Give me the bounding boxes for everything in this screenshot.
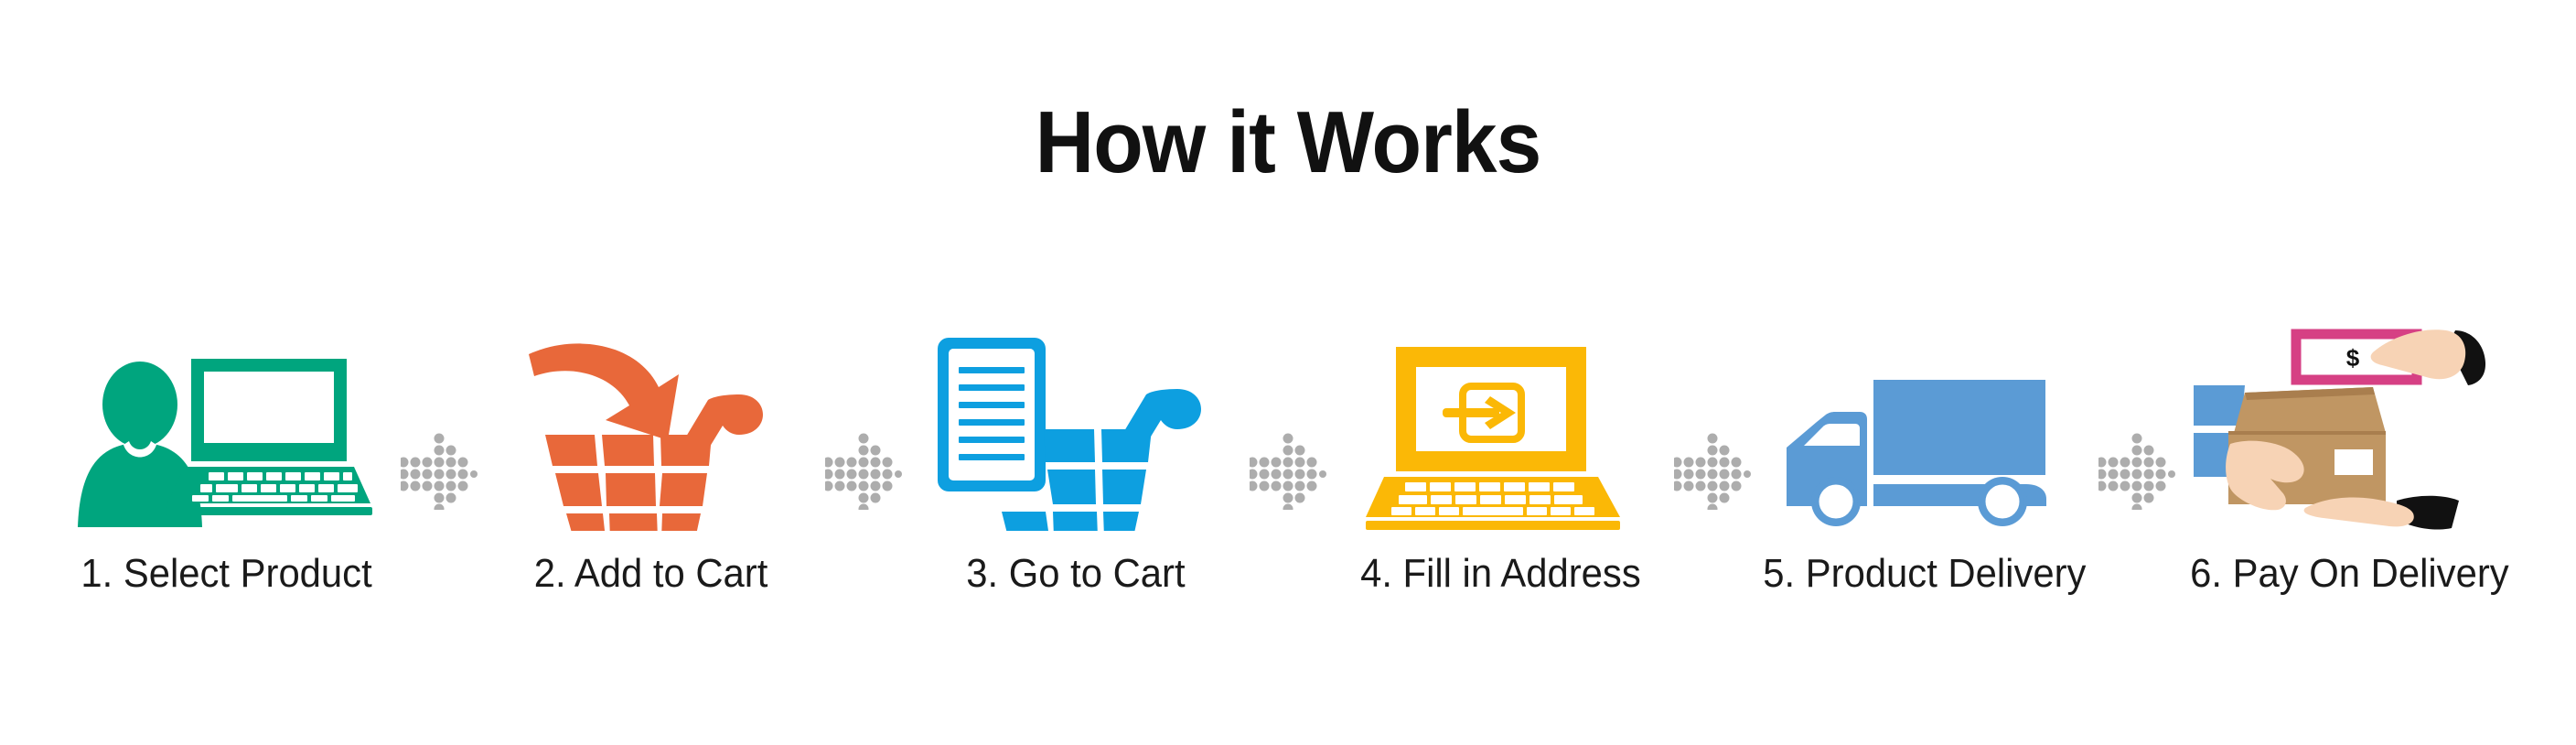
step-1-select-product[interactable]: 1. Select Product: [53, 302, 401, 597]
cart-with-arrow-icon: [514, 334, 789, 531]
infographic-page: How it Works: [0, 0, 2576, 745]
step-4-label: 4. Fill in Address: [1360, 551, 1641, 597]
dotted-right-arrow-icon: [401, 433, 478, 510]
person-with-laptop-icon: [76, 348, 378, 531]
step-1-icon-box: [53, 302, 401, 531]
step-2-add-to-cart[interactable]: 2. Add to Cart: [478, 302, 825, 597]
step-3-label: 3. Go to Cart: [966, 551, 1185, 597]
separator-arrow-5: [2098, 357, 2175, 586]
laptop-with-login-arrow-icon: [1366, 343, 1636, 531]
step-3-go-to-cart[interactable]: 3. Go to Cart: [902, 302, 1250, 597]
step-2-icon-box: [478, 302, 825, 531]
dotted-right-arrow-icon: [2098, 433, 2175, 510]
step-5-label: 5. Product Delivery: [1763, 551, 2086, 597]
separator-arrow-1: [401, 357, 478, 586]
cash-on-delivery-icon: $: [2194, 325, 2505, 531]
step-6-pay-on-delivery[interactable]: $: [2175, 302, 2523, 597]
dotted-right-arrow-icon: [1674, 433, 1751, 510]
step-5-icon-box: [1751, 302, 2098, 531]
separator-arrow-2: [825, 357, 902, 586]
step-4-fill-in-address[interactable]: 4. Fill in Address: [1326, 302, 1674, 597]
delivery-truck-icon: [1783, 371, 2066, 531]
step-2-label: 2. Add to Cart: [534, 551, 768, 597]
separator-arrow-4: [1674, 357, 1751, 586]
box-shipping-label: [2334, 449, 2373, 475]
step-4-icon-box: [1326, 302, 1674, 531]
hand-receiving-box: [2304, 496, 2459, 530]
step-6-label: 6. Pay On Delivery: [2190, 551, 2508, 597]
dotted-right-arrow-icon: [825, 433, 902, 510]
separator-arrow-3: [1250, 357, 1326, 586]
step-3-icon-box: [902, 302, 1250, 531]
steps-container: 1. Select Product: [0, 302, 2576, 597]
document-with-cart-icon: [934, 334, 1218, 531]
page-title: How it Works: [91, 99, 2486, 187]
dotted-right-arrow-icon: [1250, 433, 1326, 510]
banknote-dollar-symbol: $: [2346, 344, 2360, 372]
step-5-product-delivery[interactable]: 5. Product Delivery: [1751, 302, 2098, 597]
step-6-icon-box: $: [2175, 302, 2523, 531]
step-1-label: 1. Select Product: [81, 551, 372, 597]
